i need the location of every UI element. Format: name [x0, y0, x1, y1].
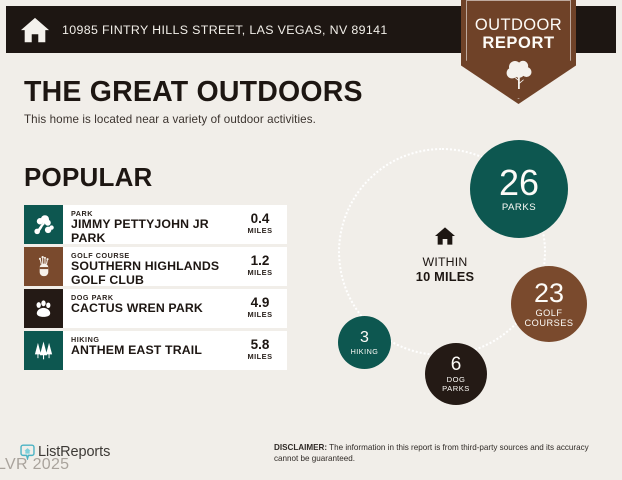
poi-distance-value: 4.9 [239, 295, 281, 310]
poi-distance-value: 5.8 [239, 337, 281, 352]
poi-text: PARK JIMMY PETTYJOHN JR PARK [63, 205, 239, 244]
poi-distance-value: 0.4 [239, 211, 281, 226]
disclaimer-label: DISCLAIMER: [274, 443, 327, 452]
poi-distance-unit: MILES [239, 226, 281, 235]
poi-distance-value: 1.2 [239, 253, 281, 268]
page-subtitle: This home is located near a variety of o… [24, 113, 316, 126]
poi-name: CACTUS WREN PARK [71, 302, 239, 316]
bubble-golf-label: GOLF COURSES [525, 308, 574, 329]
poi-text: GOLF COURSE SOUTHERN HIGHLANDS GOLF CLUB [63, 247, 239, 286]
poi-icon-swatch [24, 247, 63, 286]
list-item[interactable]: PARK JIMMY PETTYJOHN JR PARK 0.4 MILES [24, 205, 287, 244]
poi-icon-swatch [24, 289, 63, 328]
poi-text: DOG PARK CACTUS WREN PARK [63, 289, 239, 328]
popular-list: PARK JIMMY PETTYJOHN JR PARK 0.4 MILES [24, 205, 287, 373]
bubble-golf-label-line2: COURSES [525, 318, 574, 329]
badge-label-line2: REPORT [461, 34, 576, 52]
disclaimer: DISCLAIMER: The information in this repo… [274, 443, 594, 464]
poi-distance: 1.2 MILES [239, 247, 287, 286]
poi-distance: 4.9 MILES [239, 289, 287, 328]
poi-icon-swatch [24, 331, 63, 370]
bubble-dog-label-line2: PARKS [442, 384, 470, 393]
bubble-golf-courses: 23 GOLF COURSES [511, 266, 587, 342]
poi-distance-unit: MILES [239, 352, 281, 361]
poi-name: ANTHEM EAST TRAIL [71, 344, 239, 358]
paw-print-icon [32, 297, 55, 320]
list-item[interactable]: HIKING ANTHEM EAST TRAIL 5.8 MILES [24, 331, 287, 370]
page-title: THE GREAT OUTDOORS [24, 76, 363, 109]
outdoor-report-badge: OUTDOOR REPORT [461, 0, 576, 104]
list-item[interactable]: DOG PARK CACTUS WREN PARK 4.9 MILES [24, 289, 287, 328]
bubble-parks-value: 26 [499, 165, 539, 201]
poi-name: JIMMY PETTYJOHN JR PARK [71, 218, 239, 244]
poi-distance-unit: MILES [239, 268, 281, 277]
poi-distance: 5.8 MILES [239, 331, 287, 370]
badge-label-line1: OUTDOOR [461, 16, 576, 34]
poi-text: HIKING ANTHEM EAST TRAIL [63, 331, 239, 370]
bubble-hiking-label: HIKING [351, 347, 379, 356]
property-address: 10985 FINTRY HILLS STREET, LAS VEGAS, NV… [62, 23, 388, 37]
badge-label: OUTDOOR REPORT [461, 16, 576, 52]
bubble-golf-label-line1: GOLF [525, 308, 574, 319]
golf-bag-icon [32, 255, 55, 278]
bubble-parks: 26 PARKS [470, 140, 568, 238]
lvr-watermark: LVR 2025 [0, 456, 69, 474]
outdoor-report-page: 10985 FINTRY HILLS STREET, LAS VEGAS, NV… [0, 0, 622, 480]
chart-center-line2: 10 MILES [394, 269, 496, 284]
bubble-dog-value: 6 [451, 355, 462, 374]
within-10-miles-chart: 26 PARKS 23 GOLF COURSES 6 DOG PARKS 3 H… [318, 140, 614, 412]
house-icon [20, 16, 50, 44]
house-icon [434, 233, 456, 250]
tree-icon [32, 213, 55, 236]
bubble-dog-parks: 6 DOG PARKS [425, 343, 487, 405]
poi-name: SOUTHERN HIGHLANDS GOLF CLUB [71, 260, 239, 286]
bubble-golf-value: 23 [534, 280, 564, 307]
poi-distance: 0.4 MILES [239, 205, 287, 244]
poi-distance-unit: MILES [239, 310, 281, 319]
chart-center-label: WITHIN 10 MILES [394, 226, 496, 284]
bubble-parks-label: PARKS [502, 202, 536, 213]
list-item[interactable]: GOLF COURSE SOUTHERN HIGHLANDS GOLF CLUB… [24, 247, 287, 286]
bubble-dog-label-line1: DOG [442, 375, 470, 384]
poi-icon-swatch [24, 205, 63, 244]
bubble-hiking: 3 HIKING [338, 316, 391, 369]
bubble-hiking-value: 3 [360, 330, 369, 346]
popular-heading: POPULAR [24, 162, 153, 193]
chart-center-line1: WITHIN [394, 255, 496, 269]
pine-trees-icon [32, 339, 55, 362]
bubble-dog-label: DOG PARKS [442, 375, 470, 393]
tree-icon [506, 58, 532, 90]
